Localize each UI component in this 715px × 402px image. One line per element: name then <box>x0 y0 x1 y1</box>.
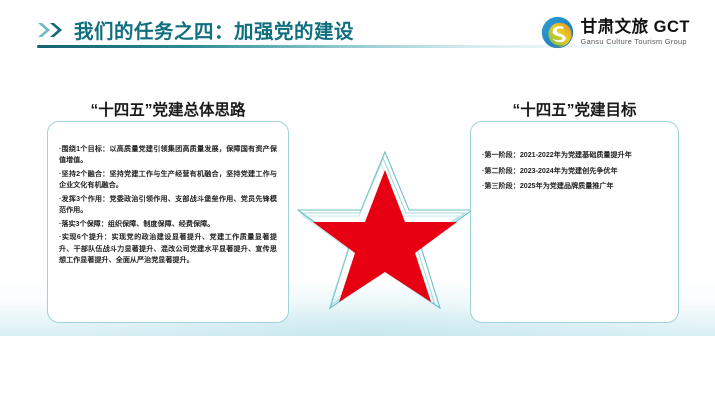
page-title: 我们的任务之四：加强党的建设 <box>74 15 354 44</box>
list-item: ·实现6个提升：实现党的政治建设显著提升、党建工作质量显著提升、干部队伍战斗力显… <box>59 232 277 266</box>
list-item: ·坚持2个融合：坚持党建工作与生产经营有机融合，坚持党建工作与企业文化有机融合。 <box>59 169 277 192</box>
card-title-goals: “十四五”党建目标 <box>471 98 678 120</box>
list-item: ·第二阶段：2023-2024年为党建创先争优年 <box>482 166 667 177</box>
double-chevron-right-icon <box>37 22 69 38</box>
card-goals: “十四五”党建目标 ·第一阶段：2021-2022年为党建基础质量提升年 ·第二… <box>470 121 679 323</box>
card-body-overall-approach: ·围绕1个目标：以高质量党建引领集团高质量发展，保障国有资产保值增值。 ·坚持2… <box>48 122 288 279</box>
bottom-white-band <box>0 336 715 402</box>
list-item: ·围绕1个目标：以高质量党建引领集团高质量发展，保障国有资产保值增值。 <box>59 144 277 167</box>
list-item: ·第三阶段：2025年为党建品牌质量推广年 <box>482 181 667 192</box>
logo-name-cn: 甘肃文旅 GCT <box>581 19 690 36</box>
slide-canvas: 我们的任务之四：加强党的建设 <box>0 0 715 402</box>
brand-logo: 甘肃文旅 GCT Gansu Culture Tourism Group <box>541 14 690 50</box>
gct-circular-logo-icon <box>541 16 574 49</box>
logo-name-en: Gansu Culture Tourism Group <box>581 38 690 45</box>
list-item: ·第一阶段：2021-2022年为党建基础质量提升年 <box>482 150 667 161</box>
list-item: ·落实3个保障：组织保障、制度保障、经费保障。 <box>59 219 277 230</box>
card-title-overall-approach: “十四五”党建总体思路 <box>48 98 288 120</box>
card-overall-approach: “十四五”党建总体思路 ·围绕1个目标：以高质量党建引领集团高质量发展，保障国有… <box>47 121 289 323</box>
red-five-point-star-icon <box>297 148 473 318</box>
slide-header: 我们的任务之四：加强党的建设 <box>0 0 715 60</box>
list-item: ·发挥3个作用：党委政治引领作用、支部战斗堡垒作用、党员先锋模 范作用。 <box>59 194 277 217</box>
card-body-goals: ·第一阶段：2021-2022年为党建基础质量提升年 ·第二阶段：2023-20… <box>471 122 678 207</box>
